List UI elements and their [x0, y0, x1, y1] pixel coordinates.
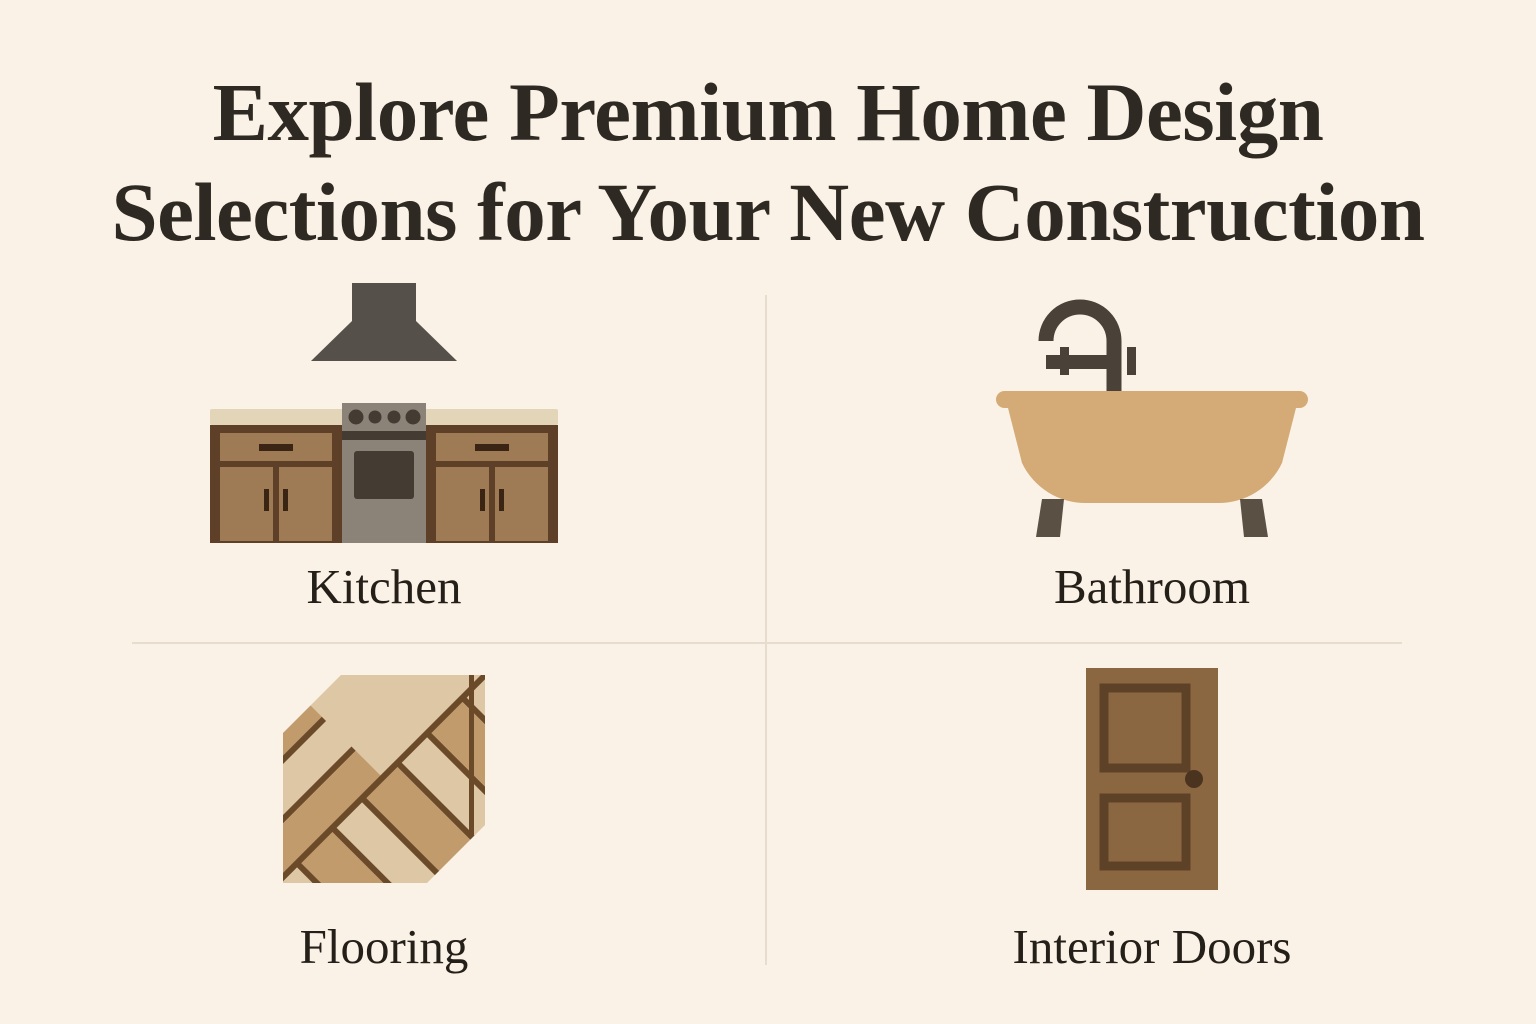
- herringbone-flooring-icon: [283, 675, 485, 883]
- bathtub-icon: [982, 281, 1322, 543]
- page-title: Explore Premium Home Design Selections f…: [0, 62, 1536, 262]
- category-card-kitchen[interactable]: Kitchen: [0, 282, 768, 632]
- category-card-interior-doors[interactable]: Interior Doors: [768, 664, 1536, 1014]
- category-label-flooring: Flooring: [300, 918, 469, 976]
- category-label-interior-doors: Interior Doors: [1013, 918, 1292, 976]
- interior-door-icon: [1084, 666, 1220, 892]
- category-card-bathroom[interactable]: Bathroom: [768, 282, 1536, 632]
- kitchen-icon-wrap: [204, 282, 564, 542]
- category-label-bathroom: Bathroom: [1054, 558, 1250, 616]
- poster-canvas: Explore Premium Home Design Selections f…: [0, 0, 1536, 1024]
- flooring-icon-wrap: [283, 664, 485, 894]
- title-line-1: Explore Premium Home Design: [0, 62, 1536, 162]
- kitchen-range-icon: [204, 281, 564, 543]
- doors-icon-wrap: [1084, 664, 1220, 894]
- title-line-2: Selections for Your New Construction: [0, 162, 1536, 262]
- category-card-flooring[interactable]: Flooring: [0, 664, 768, 1014]
- category-label-kitchen: Kitchen: [306, 558, 461, 616]
- bathroom-icon-wrap: [982, 282, 1322, 542]
- category-grid: Kitchen: [0, 282, 1536, 982]
